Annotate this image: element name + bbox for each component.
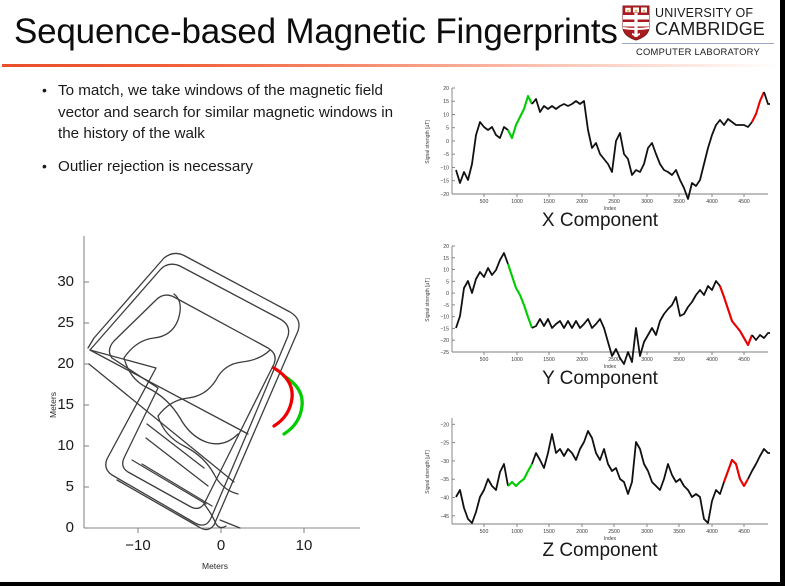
svg-text:3500: 3500 (673, 357, 685, 363)
svg-text:−25: −25 (440, 441, 449, 447)
z-query-segment (508, 464, 532, 486)
bullet-marker-icon: • (30, 156, 58, 177)
z-matched-segment (724, 460, 748, 486)
svg-text:2500: 2500 (608, 529, 620, 535)
svg-text:2500: 2500 (608, 357, 620, 363)
y-component-plot: 201510 50−5 −10−15−20 −25 50010001500 20… (420, 240, 780, 370)
svg-text:−15: −15 (440, 326, 449, 332)
logo-line-cambridge: CAMBRIDGE (655, 20, 765, 39)
x-component-figure: 201510 50−5 −10−15−20 50010001500 200025… (420, 82, 780, 230)
svg-text:0: 0 (66, 519, 74, 536)
z-component-caption: Z Component (420, 540, 780, 562)
svg-text:1000: 1000 (511, 357, 523, 363)
svg-text:3000: 3000 (641, 199, 653, 205)
svg-text:−20: −20 (440, 338, 449, 344)
svg-text:0: 0 (217, 537, 225, 554)
svg-text:25: 25 (57, 314, 74, 331)
map-xaxis-title: Meters (202, 561, 228, 571)
title-divider (2, 64, 780, 67)
svg-text:0: 0 (446, 139, 449, 145)
trajectory-matched-segment (274, 368, 292, 426)
svg-text:10: 10 (296, 537, 313, 554)
list-item: • Outlier rejection is necessary (30, 156, 400, 178)
y-axis-title: Signal strength [µT] (425, 450, 431, 494)
svg-text:4500: 4500 (738, 529, 750, 535)
svg-text:−40: −40 (440, 496, 449, 502)
bullet-text: To match, we take windows of the magneti… (58, 80, 400, 145)
trajectory-query-segment (284, 376, 302, 434)
svg-text:20: 20 (443, 244, 449, 250)
y-component-figure: 201510 50−5 −10−15−20 −25 50010001500 20… (420, 240, 780, 390)
svg-text:15: 15 (57, 396, 74, 413)
svg-text:−10: −10 (440, 315, 449, 321)
x-component-caption: X Component (420, 210, 780, 232)
svg-text:10: 10 (443, 268, 449, 274)
svg-text:500: 500 (480, 529, 489, 535)
svg-text:5: 5 (446, 279, 449, 285)
y-axis-title: Signal strength [µT] (425, 278, 431, 322)
z-component-plot: −20−25−30 −35−40−45 50010001500 20002500… (420, 412, 780, 542)
list-item: • To match, we take windows of the magne… (30, 80, 400, 145)
svg-text:1000: 1000 (511, 529, 523, 535)
svg-text:20: 20 (57, 355, 74, 372)
svg-text:2000: 2000 (576, 357, 588, 363)
x-component-plot: 201510 50−5 −10−15−20 50010001500 200025… (420, 82, 780, 212)
university-logo: UNIVERSITY OF CAMBRIDGE COMPUTER LABORAT… (622, 5, 774, 61)
svg-text:−20: −20 (440, 192, 449, 198)
page-title: Sequence-based Magnetic Fingerprints (14, 8, 614, 56)
svg-text:4000: 4000 (706, 357, 718, 363)
svg-text:2500: 2500 (608, 199, 620, 205)
svg-text:2000: 2000 (576, 529, 588, 535)
svg-text:−25: −25 (440, 350, 449, 356)
map-yaxis-title: Meters (48, 392, 58, 418)
y-matched-segment (720, 286, 752, 345)
bullet-text: Outlier rejection is necessary (58, 156, 253, 178)
svg-text:4500: 4500 (738, 199, 750, 205)
z-component-figure: −20−25−30 −35−40−45 50010001500 20002500… (420, 412, 780, 562)
svg-text:−10: −10 (125, 537, 150, 554)
svg-text:15: 15 (443, 256, 449, 262)
svg-text:−10: −10 (440, 166, 449, 172)
logo-department-label: COMPUTER LABORATORY (622, 46, 774, 57)
svg-text:−5: −5 (443, 152, 449, 158)
slide-canvas: Sequence-based Magnetic Fingerprints (0, 0, 780, 582)
svg-text:3500: 3500 (673, 199, 685, 205)
svg-text:10: 10 (57, 437, 74, 454)
svg-text:5: 5 (66, 478, 74, 495)
svg-text:30: 30 (57, 273, 74, 290)
svg-text:3000: 3000 (641, 529, 653, 535)
svg-text:500: 500 (480, 199, 489, 205)
svg-text:−20: −20 (440, 422, 449, 428)
walk-trajectory-figure: 0 5 10 15 20 25 30 −10 0 10 Meters Meter… (8, 228, 408, 578)
svg-text:2000: 2000 (576, 199, 588, 205)
walk-trajectory-plot: 0 5 10 15 20 25 30 −10 0 10 (8, 228, 408, 578)
svg-text:1500: 1500 (543, 199, 555, 205)
y-component-caption: Y Component (420, 368, 780, 390)
svg-text:500: 500 (480, 357, 489, 363)
bullet-marker-icon: • (30, 80, 58, 101)
svg-text:15: 15 (443, 99, 449, 105)
logo-rule (622, 43, 774, 44)
svg-text:4500: 4500 (738, 357, 750, 363)
svg-text:−45: −45 (440, 514, 449, 520)
svg-text:−30: −30 (440, 459, 449, 465)
svg-text:5: 5 (446, 126, 449, 132)
cambridge-crest-icon (622, 5, 650, 41)
svg-text:0: 0 (446, 291, 449, 297)
svg-text:10: 10 (443, 113, 449, 119)
svg-text:−15: −15 (440, 179, 449, 185)
svg-text:1000: 1000 (511, 199, 523, 205)
svg-text:1500: 1500 (543, 357, 555, 363)
y-axis-title: Signal strength [µT] (425, 120, 431, 164)
svg-text:−5: −5 (443, 303, 449, 309)
x-query-segment (508, 96, 532, 138)
svg-text:1500: 1500 (543, 529, 555, 535)
svg-text:−35: −35 (440, 477, 449, 483)
bullet-list: • To match, we take windows of the magne… (30, 80, 400, 188)
svg-text:20: 20 (443, 86, 449, 92)
y-query-segment (508, 264, 532, 328)
svg-text:3000: 3000 (641, 357, 653, 363)
x-matched-segment (752, 92, 764, 122)
svg-text:4000: 4000 (706, 529, 718, 535)
svg-text:3500: 3500 (673, 529, 685, 535)
svg-text:4000: 4000 (706, 199, 718, 205)
